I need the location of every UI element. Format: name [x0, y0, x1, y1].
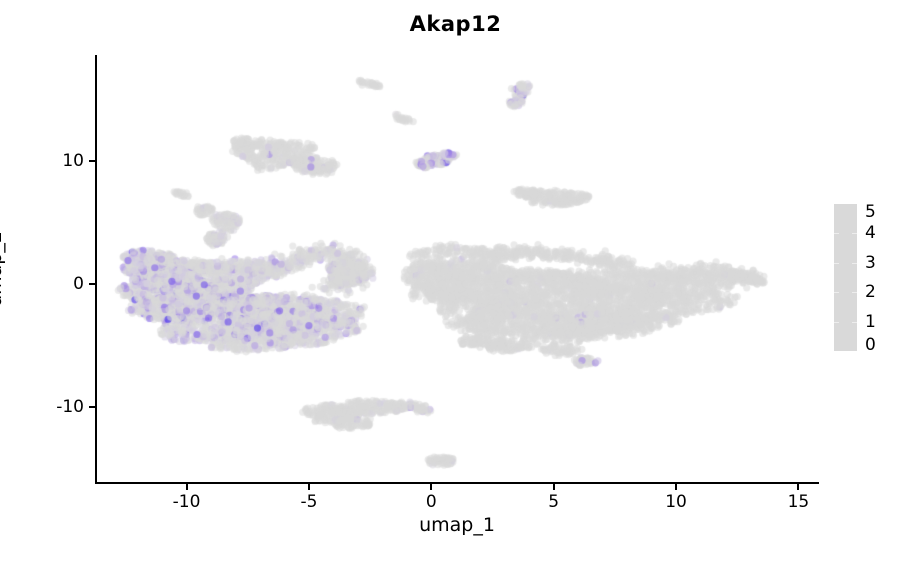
colorbar-tick-label: 2	[865, 282, 876, 302]
x-tick-label: -10	[173, 492, 201, 512]
colorbar-tick-mark	[834, 322, 857, 323]
x-tick-label: -5	[300, 492, 317, 512]
colorbar-tick-label: 5	[865, 202, 876, 222]
umap-feature-plot-figure: Akap12 -10-5051015 100-10 umap_1 umap_2 …	[0, 0, 911, 562]
colorbar-legend: 543210	[834, 204, 904, 351]
y-tick-mark	[89, 283, 95, 285]
y-axis-spine	[95, 55, 97, 484]
y-tick-label: 10	[62, 151, 84, 171]
x-tick-label: 10	[665, 492, 687, 512]
colorbar-tick-label: 1	[865, 312, 876, 332]
colorbar-tick-label: 0	[865, 335, 876, 355]
colorbar-gradient	[834, 204, 857, 351]
y-axis-label: umap_2	[0, 231, 6, 307]
x-axis-label: umap_1	[96, 514, 818, 536]
x-tick-mark	[553, 484, 555, 490]
y-tick-label: -10	[56, 397, 84, 417]
x-tick-label: 15	[788, 492, 810, 512]
y-tick-label: 0	[73, 274, 84, 294]
x-tick-label: 5	[548, 492, 559, 512]
x-tick-mark	[675, 484, 677, 490]
y-tick-mark	[89, 160, 95, 162]
y-tick-mark	[89, 406, 95, 408]
colorbar-tick-label: 4	[865, 223, 876, 243]
x-tick-mark	[797, 484, 799, 490]
x-tick-mark	[308, 484, 310, 490]
x-tick-label: 0	[426, 492, 437, 512]
x-axis-spine	[95, 482, 819, 484]
colorbar-tick-mark	[834, 292, 857, 293]
x-tick-mark	[430, 484, 432, 490]
page-title: Akap12	[0, 12, 911, 36]
colorbar-tick-label: 3	[865, 253, 876, 273]
colorbar-tick-mark	[834, 233, 857, 234]
scatter-plot-canvas	[96, 55, 818, 483]
colorbar-tick-mark	[834, 263, 857, 264]
x-tick-mark	[186, 484, 188, 490]
